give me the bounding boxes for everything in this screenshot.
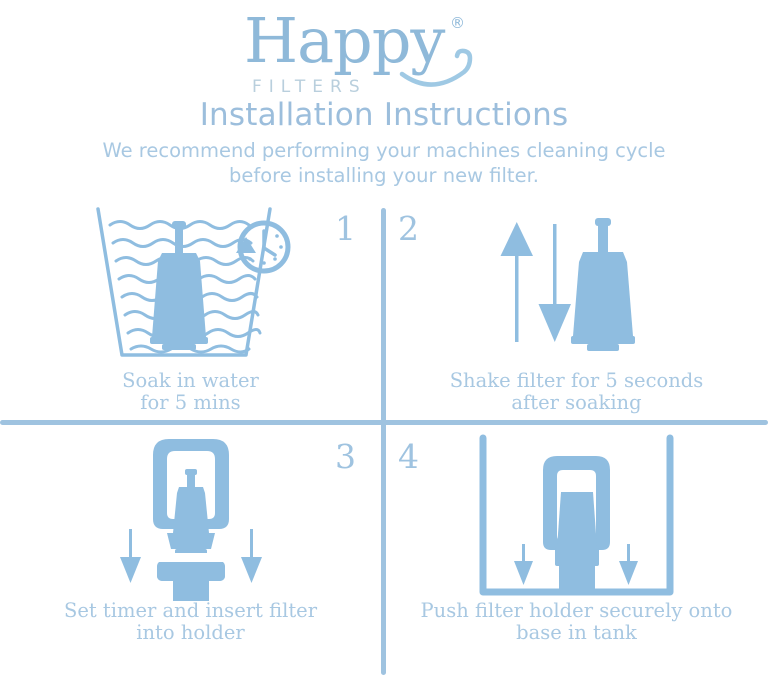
step-2-caption-line-1: Shake filter for 5 seconds [386,370,767,392]
step-panel-2: Shake filter for 5 seconds after soaking [386,200,767,422]
step-1-caption-line-2: for 5 mins [0,392,381,414]
step-panel-1: Soak in water for 5 mins [0,200,381,422]
page-subtitle: We recommend performing your machines cl… [74,138,694,188]
page-title: Installation Instructions [0,96,768,132]
arrow-down-left-icon [120,529,141,583]
step-4-caption-line-2: base in tank [386,622,767,644]
svg-text:®: ® [450,14,465,32]
step-1-caption: Soak in water for 5 mins [0,370,381,414]
filter-soaking-in-bucket-with-timer-icon [76,203,306,363]
step-panel-4: Push filter holder securely onto base in… [386,428,767,650]
step-2-caption-line-2: after soaking [386,392,767,414]
filter-inserting-into-holder-icon [91,433,291,603]
step-3-caption-line-2: into holder [0,622,381,644]
svg-text:FILTERS: FILTERS [252,77,367,97]
arrow-down-icon [538,224,571,342]
arrow-down-right-icon [619,544,638,585]
arrow-down-right-icon [241,529,262,583]
step-2-caption: Shake filter for 5 seconds after soaking [386,370,767,414]
arrow-down-left-icon [514,544,533,585]
step-4-illustration [386,430,767,605]
filter-with-up-down-shake-arrows-icon [477,208,677,358]
step-3-illustration [0,430,381,605]
step-panel-3: Set timer and insert filter into holder [0,428,381,650]
step-3-caption: Set timer and insert filter into holder [0,600,381,644]
arrow-up-icon [500,222,533,342]
happy-filters-logo-icon: Happy ® FILTERS [234,6,534,98]
step-4-caption-line-1: Push filter holder securely onto [386,600,767,622]
filter-holder-pushed-into-tank-icon [469,430,684,605]
svg-text:Happy: Happy [244,6,445,77]
brand-logo: Happy ® FILTERS [0,6,768,96]
step-3-caption-line-1: Set timer and insert filter [0,600,381,622]
step-4-caption: Push filter holder securely onto base in… [386,600,767,644]
step-2-illustration [386,200,767,365]
step-1-caption-line-1: Soak in water [0,370,381,392]
instruction-steps-grid: 1 2 3 4 [0,200,768,675]
step-1-illustration [0,200,381,365]
page-subtitle-line-1: We recommend performing your machines cl… [102,139,609,162]
page-header: Happy ® FILTERS Installation Instruction… [0,0,768,188]
